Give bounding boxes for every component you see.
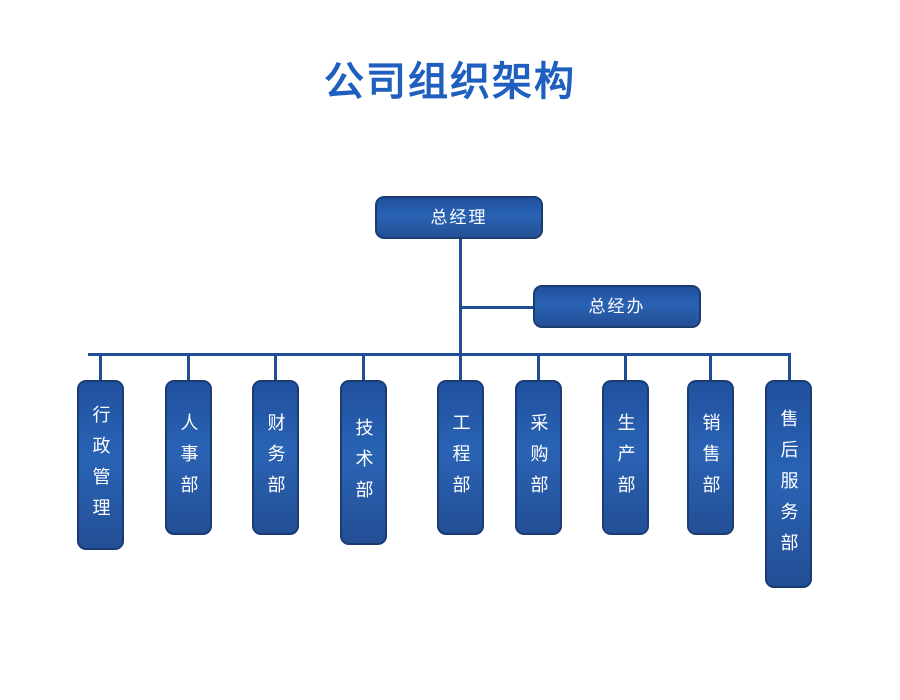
- page-title: 公司组织架构: [0, 58, 900, 106]
- node-department-after-sales-service[interactable]: 售后服务部: [765, 380, 812, 588]
- node-general-manager[interactable]: 总经理: [375, 196, 543, 239]
- connector-drop-6: [537, 353, 540, 381]
- node-department-technology[interactable]: 技术部: [340, 380, 387, 545]
- connector-department-bus: [88, 353, 790, 356]
- connector-staff-branch: [459, 306, 535, 309]
- node-department-production[interactable]: 生产部: [602, 380, 649, 535]
- connector-drop-4: [362, 353, 365, 381]
- node-department-engineering[interactable]: 工程部: [437, 380, 484, 535]
- connector-drop-8: [709, 353, 712, 381]
- node-department-finance[interactable]: 财务部: [252, 380, 299, 535]
- org-chart-canvas: 公司组织架构 总经理 总经办 行政管理 人事部 财务部 技术部 工程部 采购部 …: [0, 0, 900, 700]
- node-department-administration[interactable]: 行政管理: [77, 380, 124, 550]
- connector-drop-3: [274, 353, 277, 381]
- connector-drop-2: [187, 353, 190, 381]
- node-department-sales[interactable]: 销售部: [687, 380, 734, 535]
- node-department-procurement[interactable]: 采购部: [515, 380, 562, 535]
- connector-drop-1: [99, 353, 102, 381]
- connector-drop-7: [624, 353, 627, 381]
- node-department-human-resources[interactable]: 人事部: [165, 380, 212, 535]
- connector-root-stem: [459, 238, 462, 356]
- node-general-manager-office[interactable]: 总经办: [533, 285, 701, 328]
- connector-drop-9: [788, 353, 791, 381]
- connector-drop-5: [459, 353, 462, 381]
